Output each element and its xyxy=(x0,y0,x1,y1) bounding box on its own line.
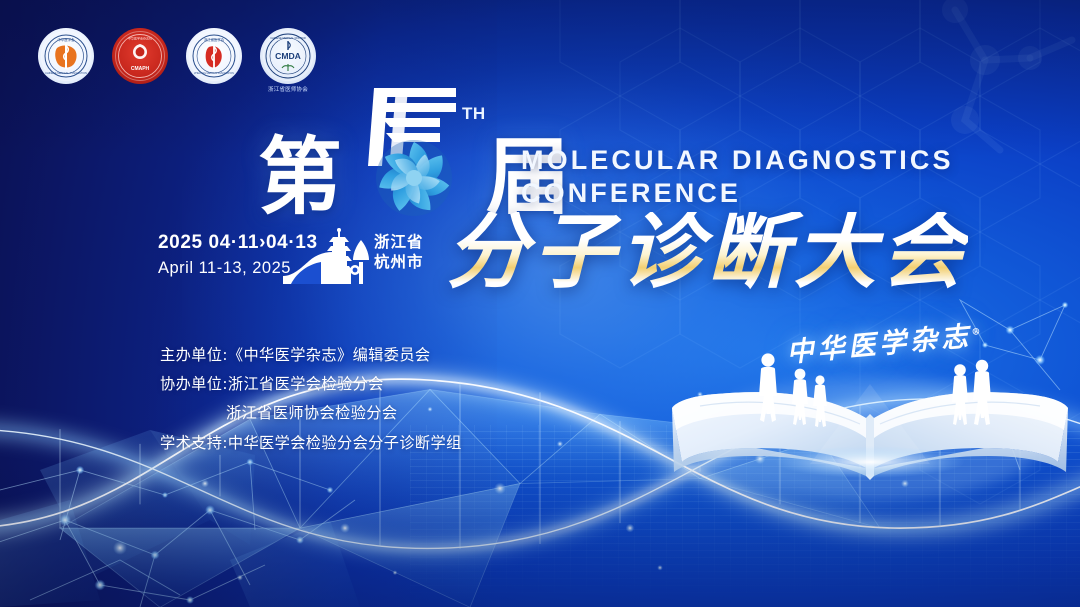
location-city: 杭州市 xyxy=(374,253,424,273)
book-illustration xyxy=(660,344,1080,534)
ordinal-suffix: TH xyxy=(462,104,486,124)
logo-zhejiang-medical-association: 浙江省医学会 ZHEJIANG MEDICAL ASSOCIATION xyxy=(186,28,242,84)
svg-text:中华医学会杂志社: 中华医学会杂志社 xyxy=(128,36,152,41)
cma-emblem-icon: 中华医学会 CHINESE MEDICAL ASSOCIATION xyxy=(38,28,94,84)
registered-mark: ® xyxy=(971,327,981,338)
organizer-line: 协办单位:浙江省医学会检验分会 xyxy=(160,370,462,399)
organizer-line: 浙江省医师协会检验分会 xyxy=(160,399,462,428)
svg-text:CMAPH: CMAPH xyxy=(131,66,150,72)
svg-text:中华医学会: 中华医学会 xyxy=(58,37,76,42)
svg-text:浙江省医学会: 浙江省医学会 xyxy=(204,37,225,42)
logo-chinese-medical-association: 中华医学会 CHINESE MEDICAL ASSOCIATION xyxy=(38,28,94,84)
svg-text:CHINESE MEDICAL ASSOCIATION: CHINESE MEDICAL ASSOCIATION xyxy=(45,71,87,75)
conference-poster: 中华医学杂志® 中华医学会 CHINESE MEDICAL ASSOCIATIO… xyxy=(0,0,1080,607)
svg-text:CHINESE MEDICAL DOCTOR: CHINESE MEDICAL DOCTOR xyxy=(270,36,306,40)
chinese-title: 分子诊断大会 xyxy=(446,212,968,294)
logo-cmaph: CMAPH 中华医学会杂志社 xyxy=(112,28,168,84)
organizer-line: 学术支持:中华医学会检验分会分子诊断学组 xyxy=(160,429,462,458)
ordinal-five-logo: TH xyxy=(344,92,480,218)
english-title: MOLECULAR DIAGNOSTICS CONFERENCE xyxy=(521,144,954,211)
svg-text:CMDA: CMDA xyxy=(275,51,301,61)
organizer-block: 主办单位:《中华医学杂志》编辑委员会 协办单位:浙江省医学会检验分会 浙江省医师… xyxy=(160,341,462,458)
logo-cmda: CMDA CHINESE MEDICAL DOCTOR 浙江省医师协会 xyxy=(260,28,316,93)
organization-logos: 中华医学会 CHINESE MEDICAL ASSOCIATION CMAPH … xyxy=(38,28,316,93)
location-province: 浙江省 xyxy=(374,233,424,253)
location-text: 浙江省 杭州市 xyxy=(374,233,424,273)
organizer-line: 主办单位:《中华医学杂志》编辑委员会 xyxy=(160,341,462,370)
cmaph-emblem-icon: CMAPH 中华医学会杂志社 xyxy=(112,28,168,84)
headline-prefix: 第 xyxy=(258,136,342,218)
svg-text:ZHEJIANG MEDICAL ASSOCIATION: ZHEJIANG MEDICAL ASSOCIATION xyxy=(194,72,234,75)
cmda-emblem-icon: CMDA CHINESE MEDICAL DOCTOR xyxy=(260,28,316,84)
english-title-line1: MOLECULAR DIAGNOSTICS xyxy=(521,144,954,177)
leifeng-pagoda-broken-bridge-icon xyxy=(283,228,375,289)
zjma-emblem-icon: 浙江省医学会 ZHEJIANG MEDICAL ASSOCIATION xyxy=(186,28,242,84)
